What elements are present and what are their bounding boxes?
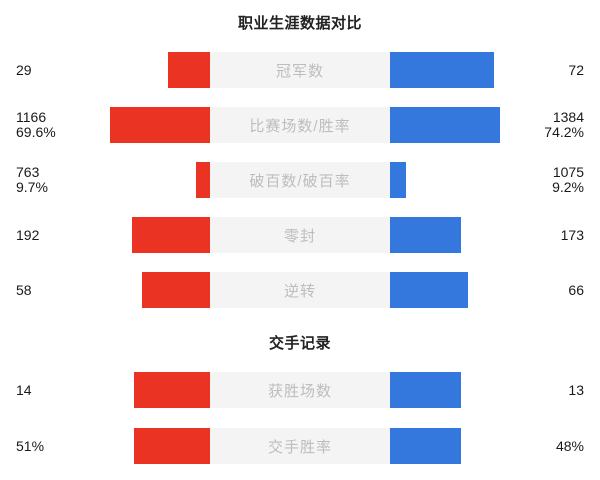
right-bar [390, 52, 494, 88]
stat-row-matches-winrate: 1166 69.6% 比赛场数/胜率 1384 74.2% [0, 103, 600, 147]
left-bar [110, 107, 210, 143]
right-bar [390, 217, 461, 253]
stat-track: 交手胜率 [210, 428, 390, 464]
right-value: 173 [494, 228, 584, 243]
stat-track: 零封 [210, 217, 390, 253]
right-bar [390, 372, 461, 408]
right-value: 48% [494, 439, 584, 454]
right-bar [390, 428, 461, 464]
stat-row-centuries: 763 9.7% 破百数/破百率 1075 9.2% [0, 158, 600, 202]
right-value: 13 [494, 383, 584, 398]
right-value: 1384 74.2% [494, 110, 584, 140]
stat-row-h2h-wins: 14 获胜场数 13 [0, 368, 600, 412]
left-bar [134, 372, 210, 408]
stat-track: 逆转 [210, 272, 390, 308]
right-value: 72 [494, 63, 584, 78]
stat-label: 冠军数 [276, 60, 324, 81]
stat-label: 零封 [284, 225, 316, 246]
right-bar [390, 162, 406, 198]
section-title-career: 职业生涯数据对比 [0, 12, 600, 33]
stat-label: 获胜场数 [268, 380, 332, 401]
right-value: 66 [494, 283, 584, 298]
left-value: 192 [16, 228, 106, 243]
section-title-head-to-head: 交手记录 [0, 332, 600, 353]
left-bar [142, 272, 210, 308]
stat-row-h2h-winrate: 51% 交手胜率 48% [0, 424, 600, 468]
stat-row-whitewash: 192 零封 173 [0, 213, 600, 257]
left-value: 14 [16, 383, 106, 398]
stat-label: 逆转 [284, 280, 316, 301]
right-bar [390, 107, 500, 143]
stat-label: 破百数/破百率 [249, 170, 350, 191]
stat-track: 获胜场数 [210, 372, 390, 408]
stat-label: 比赛场数/胜率 [249, 115, 350, 136]
left-bar [196, 162, 210, 198]
stat-row-championships: 29 冠军数 72 [0, 48, 600, 92]
left-value: 51% [16, 439, 106, 454]
left-value: 58 [16, 283, 106, 298]
right-value: 1075 9.2% [494, 165, 584, 195]
stat-row-comeback: 58 逆转 66 [0, 268, 600, 312]
left-value: 763 9.7% [16, 165, 106, 195]
stat-track: 冠军数 [210, 52, 390, 88]
stat-track: 破百数/破百率 [210, 162, 390, 198]
stat-track: 比赛场数/胜率 [210, 107, 390, 143]
left-value: 29 [16, 63, 106, 78]
comparison-chart-page: 职业生涯数据对比 29 冠军数 72 1166 69.6% 比赛场数/胜率 13… [0, 0, 600, 480]
stat-label: 交手胜率 [268, 436, 332, 457]
left-bar [132, 217, 210, 253]
left-bar [134, 428, 210, 464]
left-bar [168, 52, 210, 88]
right-bar [390, 272, 468, 308]
left-value: 1166 69.6% [16, 110, 106, 140]
